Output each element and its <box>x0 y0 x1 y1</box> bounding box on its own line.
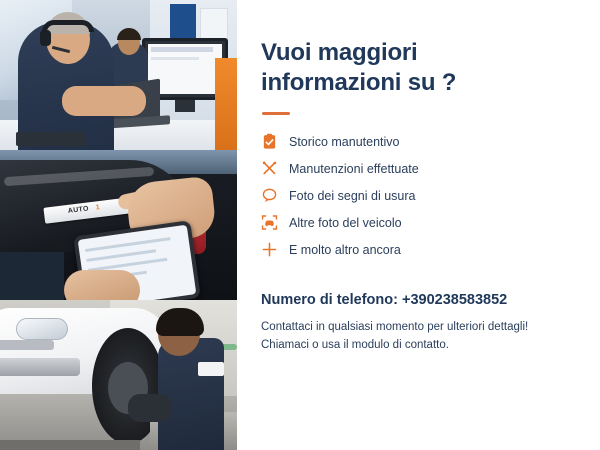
list-item-label: Storico manutentivo <box>289 135 399 149</box>
clipboard-check-icon <box>261 133 278 150</box>
desk-tablet <box>16 132 86 146</box>
list-item-label: Manutenzioni effettuate <box>289 162 419 176</box>
agent-arm <box>62 86 146 116</box>
list-item-label: Foto dei segni di usura <box>289 189 415 203</box>
advertisement-banner: AUTO1 <box>0 0 600 450</box>
inspector-hand-lower <box>64 270 140 300</box>
contact-subtext-line-1: Contattaci in qualsiasi momento per ulte… <box>261 318 528 336</box>
contact-subtext-line-2: Chiamaci o usa il modulo di contatto. <box>261 336 528 354</box>
ruler-brand-accent: 1 <box>95 204 100 211</box>
list-item: Manutenzioni effettuate <box>261 155 476 182</box>
coworker-hair <box>117 28 141 40</box>
mechanic-hair <box>156 308 204 336</box>
tools-cross-icon <box>261 160 278 177</box>
car-upper-grille <box>0 340 54 350</box>
car-lift-arm <box>0 440 140 450</box>
car-lower-grille <box>0 358 80 376</box>
photo-column: AUTO1 <box>0 0 237 450</box>
list-item: Altre foto del veicolo <box>261 209 476 236</box>
plus-icon <box>261 241 278 258</box>
list-item-label: Altre foto del veicolo <box>289 216 402 230</box>
photo-call-center <box>0 0 237 150</box>
feature-list: Storico manutentivo Manutenzioni effettu… <box>261 128 476 263</box>
car-headlight <box>16 318 68 340</box>
orange-wall-panel <box>215 58 237 150</box>
photo-damage-inspection: AUTO1 <box>0 150 237 300</box>
list-item-label: E molto altro ancora <box>289 243 401 257</box>
headset-earcup <box>40 30 51 46</box>
list-item: E molto altro ancora <box>261 236 476 263</box>
uniform-logo-patch <box>198 362 224 376</box>
mechanic-glove <box>128 394 172 422</box>
title-underline-rule <box>262 112 290 115</box>
screen-toolbar <box>151 47 213 52</box>
contact-subtext: Contattaci in qualsiasi momento per ulte… <box>261 318 528 354</box>
screen-text-line <box>151 57 199 60</box>
photo-wheel-inspection <box>0 300 237 450</box>
phone-number: Numero di telefono: +390238583852 <box>261 292 507 308</box>
monitor-stand <box>175 100 195 112</box>
speech-bubble-icon <box>261 187 278 204</box>
mechanic-torso <box>158 338 224 450</box>
page-title: Vuoi maggiori informazioni su ? <box>261 38 471 98</box>
content-panel: Vuoi maggiori informazioni su ? Saremo f… <box>237 0 600 450</box>
list-item: Foto dei segni di usura <box>261 182 476 209</box>
ruler-brand-text: AUTO <box>68 205 90 214</box>
car-frame-icon <box>261 214 278 231</box>
list-item: Storico manutentivo <box>261 128 476 155</box>
